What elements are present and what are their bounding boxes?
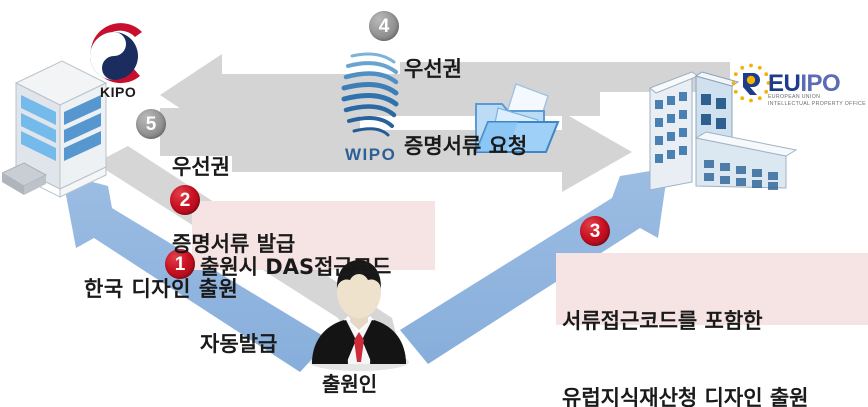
step-label-2: 출원시 DAS접근코드 자동발급 [200,204,391,407]
step-label-3: 서류접근코드를 포함한 유럽지식재산청 디자인 출원 [562,258,808,407]
step-label-4: 우선권 증명서류 요청 [404,6,527,211]
euipo-logo-icon [730,62,772,104]
euipo-logo-subtitle: EUROPEAN UNION INTELLECTUAL PROPERTY OFF… [768,94,866,108]
step-label-4-line2: 증명서류 요청 [404,134,527,160]
step-label-5-line1: 우선권 [172,155,295,181]
step-label-3-line2: 유럽지식재산청 디자인 출원 [562,386,808,407]
step-label-1: 한국 디자인 출원 [84,277,238,303]
kipo-logo-icon [78,20,154,92]
step-label-3-line1: 서류접근코드를 포함한 [562,309,808,335]
step-badge-4: 4 [369,11,399,41]
step-label-4-line1: 우선권 [404,57,527,83]
step-label-2-line2: 자동발급 [200,332,391,358]
step-badge-3: 3 [580,216,610,246]
euipo-logo-text-eu: EU [768,70,800,97]
kipo-logo-text: KIPO [100,84,136,100]
euipo-logo-text-ipo: IPO [800,70,840,97]
diagram-canvas: KIPO WIPO [0,0,868,407]
wipo-logo-text: WIPO [345,145,396,165]
step-badge-5: 5 [136,109,166,139]
wipo-logo-icon [338,48,400,146]
